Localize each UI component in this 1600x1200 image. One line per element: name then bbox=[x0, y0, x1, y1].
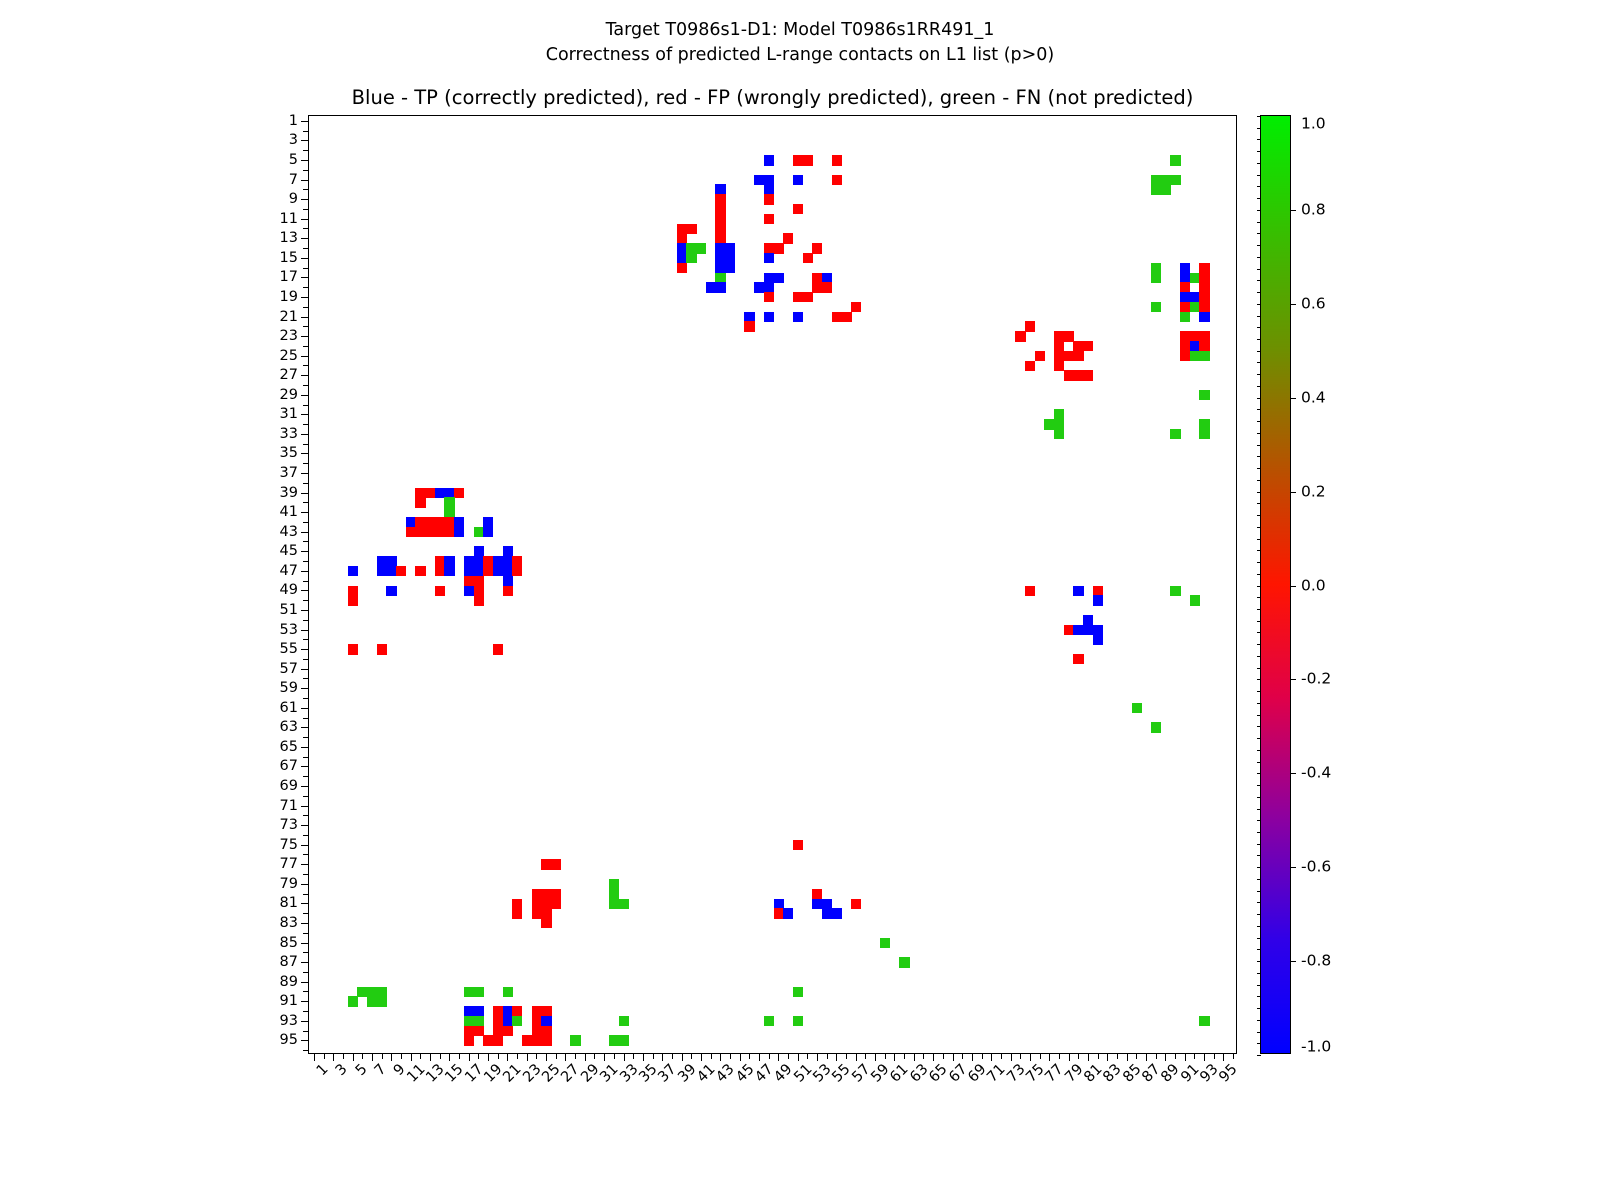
x-axis-tick bbox=[749, 1053, 750, 1059]
colorbar-minor-tick bbox=[1257, 820, 1261, 821]
y-axis-tick bbox=[303, 796, 309, 797]
contact-cell bbox=[570, 1035, 580, 1045]
contact-cell bbox=[1180, 312, 1190, 322]
contact-cell bbox=[348, 566, 358, 576]
y-axis-tick bbox=[301, 766, 309, 767]
x-axis-tick bbox=[653, 1053, 654, 1059]
contact-cell bbox=[493, 644, 503, 654]
x-axis-tick bbox=[1127, 1053, 1128, 1061]
x-axis-tick bbox=[1214, 1053, 1215, 1059]
contact-cell bbox=[512, 908, 522, 918]
colorbar-minor-tick bbox=[1257, 797, 1261, 798]
contact-cell bbox=[774, 273, 784, 283]
y-axis-tick bbox=[301, 453, 309, 454]
y-axis-tick bbox=[303, 248, 309, 249]
y-axis-tick bbox=[301, 610, 309, 611]
contact-cell bbox=[1015, 331, 1025, 341]
contact-cell bbox=[1025, 586, 1035, 596]
colorbar-minor-tick bbox=[1257, 715, 1261, 716]
contact-cell bbox=[696, 243, 706, 253]
y-axis-tick bbox=[301, 512, 309, 513]
contact-cell bbox=[851, 899, 861, 909]
y-axis-tick bbox=[303, 131, 309, 132]
x-axis-tick bbox=[1165, 1053, 1166, 1061]
contact-cell bbox=[1170, 175, 1180, 185]
y-axis-tick-label: 45 bbox=[280, 544, 298, 558]
y-axis-tick bbox=[303, 835, 309, 836]
y-axis-tick bbox=[303, 874, 309, 875]
contact-cell bbox=[396, 566, 406, 576]
colorbar-minor-tick bbox=[1257, 339, 1261, 340]
y-axis-tick-label: 21 bbox=[280, 310, 298, 324]
colorbar-minor-tick bbox=[1257, 785, 1261, 786]
contact-cell bbox=[503, 1026, 513, 1036]
y-axis-tick-label: 13 bbox=[280, 231, 298, 245]
colorbar-minor-tick bbox=[1257, 679, 1261, 680]
y-axis-tick bbox=[303, 815, 309, 816]
x-axis-tick bbox=[662, 1053, 663, 1061]
y-axis-tick bbox=[303, 737, 309, 738]
y-axis-tick bbox=[301, 806, 309, 807]
contact-cell bbox=[348, 644, 358, 654]
y-axis-tick bbox=[301, 903, 309, 904]
y-axis-tick bbox=[303, 170, 309, 171]
x-axis-tick bbox=[633, 1053, 634, 1059]
contact-cell bbox=[1170, 586, 1180, 596]
y-axis-tick bbox=[303, 541, 309, 542]
y-axis-tick bbox=[301, 434, 309, 435]
y-axis-tick bbox=[301, 258, 309, 259]
y-axis-tick bbox=[303, 913, 309, 914]
colorbar-minor-tick bbox=[1257, 902, 1261, 903]
y-axis-tick bbox=[303, 1050, 309, 1051]
y-axis-tick bbox=[303, 581, 309, 582]
x-axis-tick bbox=[740, 1053, 741, 1061]
contact-cell bbox=[1199, 390, 1209, 400]
y-axis-tick bbox=[301, 140, 309, 141]
y-axis-tick bbox=[301, 375, 309, 376]
y-axis-tick bbox=[301, 649, 309, 650]
colorbar-minor-tick bbox=[1257, 550, 1261, 551]
colorbar-tick bbox=[1290, 398, 1296, 399]
x-axis-tick bbox=[1011, 1053, 1012, 1061]
colorbar-minor-tick bbox=[1257, 445, 1261, 446]
x-axis-tick bbox=[701, 1053, 702, 1061]
colorbar-minor-tick bbox=[1257, 163, 1261, 164]
y-axis-tick bbox=[303, 561, 309, 562]
colorbar-minor-tick bbox=[1257, 222, 1261, 223]
x-axis-tick bbox=[1175, 1053, 1176, 1059]
colorbar-minor-tick bbox=[1257, 128, 1261, 129]
y-axis-tick bbox=[301, 277, 309, 278]
colorbar-minor-tick bbox=[1257, 210, 1261, 211]
x-axis-tick bbox=[1088, 1053, 1089, 1061]
x-axis-tick bbox=[991, 1053, 992, 1061]
contact-cell bbox=[1151, 722, 1161, 732]
x-axis-tick bbox=[324, 1053, 325, 1059]
y-axis-tick-label: 69 bbox=[280, 779, 298, 793]
x-axis-tick bbox=[885, 1053, 886, 1059]
colorbar-minor-tick bbox=[1257, 257, 1261, 258]
x-axis-tick bbox=[372, 1053, 373, 1061]
y-axis-tick-label: 77 bbox=[280, 857, 298, 871]
contact-cell bbox=[793, 312, 803, 322]
colorbar-minor-tick bbox=[1257, 844, 1261, 845]
colorbar-minor-tick bbox=[1257, 738, 1261, 739]
colorbar-tick bbox=[1290, 210, 1296, 211]
colorbar-minor-tick bbox=[1257, 398, 1261, 399]
y-axis-tick bbox=[301, 414, 309, 415]
y-axis-tick-label: 95 bbox=[280, 1033, 298, 1047]
x-axis-tick bbox=[333, 1053, 334, 1061]
colorbar-minor-tick bbox=[1257, 621, 1261, 622]
y-axis-tick-label: 47 bbox=[280, 564, 298, 578]
x-axis-tick bbox=[827, 1053, 828, 1059]
y-axis-tick bbox=[301, 630, 309, 631]
colorbar-minor-tick bbox=[1257, 304, 1261, 305]
y-axis-tick bbox=[301, 160, 309, 161]
contact-cell bbox=[1073, 586, 1083, 596]
contact-cell bbox=[725, 263, 735, 273]
contact-cell bbox=[803, 253, 813, 263]
y-axis-tick bbox=[301, 845, 309, 846]
contact-cell bbox=[783, 908, 793, 918]
contact-cell bbox=[551, 859, 561, 869]
y-axis-tick-label: 79 bbox=[280, 877, 298, 891]
colorbar-minor-tick bbox=[1257, 280, 1261, 281]
contact-cell bbox=[1132, 703, 1142, 713]
y-axis-tick bbox=[301, 708, 309, 709]
x-axis-tick bbox=[1001, 1053, 1002, 1059]
contact-cell bbox=[793, 175, 803, 185]
colorbar-minor-tick bbox=[1257, 139, 1261, 140]
contact-cell bbox=[832, 155, 842, 165]
x-axis-tick bbox=[343, 1053, 344, 1059]
y-axis-tick bbox=[303, 444, 309, 445]
x-axis-tick bbox=[1098, 1053, 1099, 1059]
figure-canvas: Target T0986s1-D1: Model T0986s1RR491_1 … bbox=[0, 0, 1600, 1200]
contact-cell bbox=[1054, 429, 1064, 439]
y-axis-tick bbox=[303, 463, 309, 464]
colorbar-tick bbox=[1290, 492, 1296, 493]
x-axis-tick bbox=[1078, 1053, 1079, 1059]
x-axis-tick bbox=[382, 1053, 383, 1059]
contact-cell bbox=[774, 243, 784, 253]
y-axis-tick bbox=[303, 405, 309, 406]
colorbar-minor-tick bbox=[1257, 503, 1261, 504]
contact-cell bbox=[1025, 361, 1035, 371]
colorbar-minor-tick bbox=[1257, 632, 1261, 633]
x-axis-tick bbox=[798, 1053, 799, 1061]
y-axis-tick bbox=[303, 502, 309, 503]
contact-cell bbox=[503, 586, 513, 596]
y-axis-tick bbox=[303, 1011, 309, 1012]
colorbar-minor-tick bbox=[1257, 867, 1261, 868]
y-axis-tick bbox=[301, 727, 309, 728]
contact-cell bbox=[899, 957, 909, 967]
y-axis-tick-label: 55 bbox=[280, 642, 298, 656]
contact-cell bbox=[822, 282, 832, 292]
x-axis-tick bbox=[527, 1053, 528, 1061]
colorbar-minor-tick bbox=[1257, 386, 1261, 387]
y-axis-tick bbox=[303, 620, 309, 621]
x-axis-tick bbox=[362, 1053, 363, 1059]
colorbar-tick-label: -0.4 bbox=[1301, 766, 1331, 781]
colorbar-tick bbox=[1290, 586, 1296, 587]
colorbar-minor-tick bbox=[1257, 480, 1261, 481]
x-axis-tick bbox=[507, 1053, 508, 1061]
x-axis-tick-label: 7 bbox=[372, 1062, 388, 1078]
colorbar-minor-tick bbox=[1257, 362, 1261, 363]
contact-cell bbox=[1025, 321, 1035, 331]
x-axis-tick bbox=[1030, 1053, 1031, 1061]
x-axis-tick bbox=[943, 1053, 944, 1059]
contact-cell bbox=[377, 644, 387, 654]
contact-cell bbox=[493, 1035, 503, 1045]
y-axis-tick-label: 23 bbox=[280, 329, 298, 343]
colorbar-minor-tick bbox=[1257, 562, 1261, 563]
contact-cell bbox=[783, 233, 793, 243]
y-axis-tick bbox=[301, 493, 309, 494]
colorbar-tick-label: -0.8 bbox=[1301, 954, 1331, 969]
y-axis-tick bbox=[303, 228, 309, 229]
y-axis-tick bbox=[301, 180, 309, 181]
y-axis-tick bbox=[301, 395, 309, 396]
y-axis-tick-label: 11 bbox=[280, 212, 298, 226]
colorbar-minor-tick bbox=[1257, 973, 1261, 974]
x-axis-tick bbox=[411, 1053, 412, 1061]
y-axis-tick-label: 93 bbox=[280, 1014, 298, 1028]
contact-cell bbox=[551, 899, 561, 909]
y-axis-tick-label: 63 bbox=[280, 720, 298, 734]
x-axis-tick bbox=[556, 1053, 557, 1059]
y-axis-tick-label: 75 bbox=[280, 838, 298, 852]
colorbar-minor-tick bbox=[1257, 409, 1261, 410]
colorbar-minor-tick bbox=[1257, 703, 1261, 704]
colorbar-tick bbox=[1290, 961, 1296, 962]
colorbar-minor-tick bbox=[1257, 1008, 1261, 1009]
contact-cell bbox=[764, 253, 774, 263]
colorbar-minor-tick bbox=[1257, 574, 1261, 575]
colorbar-minor-tick bbox=[1257, 809, 1261, 810]
y-axis-tick-label: 73 bbox=[280, 818, 298, 832]
contact-cell bbox=[512, 566, 522, 576]
y-axis-tick bbox=[301, 943, 309, 944]
y-axis-tick bbox=[303, 659, 309, 660]
y-axis-tick bbox=[301, 884, 309, 885]
y-axis-tick bbox=[303, 385, 309, 386]
contact-cell bbox=[619, 1016, 629, 1026]
x-axis-tick bbox=[1069, 1053, 1070, 1061]
x-axis-tick-label: 5 bbox=[353, 1062, 369, 1078]
colorbar-minor-tick bbox=[1257, 668, 1261, 669]
x-axis-tick bbox=[536, 1053, 537, 1059]
y-axis-tick bbox=[303, 991, 309, 992]
y-axis-tick bbox=[301, 1040, 309, 1041]
y-axis-tick bbox=[301, 297, 309, 298]
y-axis-tick-label: 65 bbox=[280, 740, 298, 754]
x-axis-tick bbox=[314, 1053, 315, 1061]
colorbar-minor-tick bbox=[1257, 374, 1261, 375]
colorbar-minor-tick bbox=[1257, 938, 1261, 939]
colorbar-minor-tick bbox=[1257, 832, 1261, 833]
y-axis-tick bbox=[303, 424, 309, 425]
x-axis-tick bbox=[604, 1053, 605, 1061]
colorbar-minor-tick bbox=[1257, 762, 1261, 763]
x-axis-tick bbox=[353, 1053, 354, 1061]
x-axis-tick bbox=[1049, 1053, 1050, 1061]
contact-cell bbox=[764, 292, 774, 302]
contact-cell bbox=[793, 840, 803, 850]
colorbar-minor-tick bbox=[1257, 656, 1261, 657]
y-axis-tick-label: 89 bbox=[280, 975, 298, 989]
y-axis-tick bbox=[301, 864, 309, 865]
x-axis-tick bbox=[517, 1053, 518, 1059]
colorbar-minor-tick bbox=[1257, 726, 1261, 727]
colorbar-minor-tick bbox=[1257, 527, 1261, 528]
colorbar-minor-tick bbox=[1257, 773, 1261, 774]
y-axis-tick-label: 25 bbox=[280, 349, 298, 363]
y-axis-tick bbox=[303, 757, 309, 758]
x-axis-tick bbox=[682, 1053, 683, 1061]
y-axis-tick bbox=[301, 219, 309, 220]
y-axis-tick bbox=[301, 825, 309, 826]
colorbar-minor-tick bbox=[1257, 316, 1261, 317]
x-axis-tick bbox=[1040, 1053, 1041, 1059]
y-axis-tick bbox=[301, 982, 309, 983]
colorbar-minor-tick bbox=[1257, 1055, 1261, 1056]
x-axis-tick bbox=[575, 1053, 576, 1059]
colorbar-minor-tick bbox=[1257, 996, 1261, 997]
y-axis-tick bbox=[301, 571, 309, 572]
contact-cell bbox=[512, 1016, 522, 1026]
contact-map-cells bbox=[309, 116, 1236, 1053]
x-axis-tick bbox=[730, 1053, 731, 1059]
x-axis-tick bbox=[720, 1053, 721, 1061]
y-axis-tick bbox=[303, 150, 309, 151]
contact-cell bbox=[803, 155, 813, 165]
colorbar-minor-tick bbox=[1257, 245, 1261, 246]
x-axis-tick bbox=[1059, 1053, 1060, 1059]
y-axis-tick-label: 91 bbox=[280, 994, 298, 1008]
x-axis-tick bbox=[953, 1053, 954, 1061]
y-axis-tick-label: 15 bbox=[280, 251, 298, 265]
x-axis-tick bbox=[1233, 1053, 1234, 1059]
y-axis-tick bbox=[303, 307, 309, 308]
y-axis-tick-label: 31 bbox=[280, 407, 298, 421]
y-axis-tick-label: 33 bbox=[280, 427, 298, 441]
y-axis-tick-label: 59 bbox=[280, 681, 298, 695]
y-axis-tick bbox=[303, 952, 309, 953]
x-axis-tick bbox=[875, 1053, 876, 1061]
x-axis-tick bbox=[440, 1053, 441, 1059]
colorbar-tick bbox=[1290, 773, 1296, 774]
y-axis-tick-label: 85 bbox=[280, 936, 298, 950]
colorbar-minor-tick bbox=[1257, 198, 1261, 199]
colorbar-minor-tick bbox=[1257, 597, 1261, 598]
colorbar-minor-tick bbox=[1257, 691, 1261, 692]
x-axis-tick bbox=[624, 1053, 625, 1061]
y-axis-tick bbox=[303, 972, 309, 973]
y-axis-tick-label: 49 bbox=[280, 583, 298, 597]
x-axis-tick bbox=[904, 1053, 905, 1059]
contact-cell bbox=[1093, 595, 1103, 605]
x-axis-tick bbox=[546, 1053, 547, 1061]
contact-cell bbox=[764, 312, 774, 322]
contact-cell bbox=[415, 497, 425, 507]
x-axis-tick bbox=[1117, 1053, 1118, 1059]
x-axis-tick bbox=[972, 1053, 973, 1061]
colorbar-tick-label: -0.2 bbox=[1301, 672, 1331, 687]
contact-cell bbox=[348, 996, 358, 1006]
colorbar-minor-tick bbox=[1257, 1032, 1261, 1033]
y-axis-tick bbox=[303, 268, 309, 269]
colorbar-tick-label: -0.6 bbox=[1301, 860, 1331, 875]
x-axis-tick bbox=[711, 1053, 712, 1059]
colorbar-minor-tick bbox=[1257, 421, 1261, 422]
contact-cell bbox=[386, 586, 396, 596]
contact-cell bbox=[474, 987, 484, 997]
contact-cell bbox=[377, 996, 387, 1006]
contact-cell bbox=[764, 1016, 774, 1026]
y-axis-tick-label: 81 bbox=[280, 896, 298, 910]
colorbar-minor-tick bbox=[1257, 1020, 1261, 1021]
contact-cell bbox=[764, 155, 774, 165]
y-axis-tick bbox=[301, 121, 309, 122]
contact-cell bbox=[677, 263, 687, 273]
x-axis-tick bbox=[817, 1053, 818, 1061]
colorbar-tick-label: 0.4 bbox=[1301, 390, 1326, 405]
y-axis-tick-label: 67 bbox=[280, 759, 298, 773]
colorbar-tick-label: 0.6 bbox=[1301, 296, 1326, 311]
y-axis-tick bbox=[303, 522, 309, 523]
contact-cell bbox=[1073, 654, 1083, 664]
y-axis-tick bbox=[303, 287, 309, 288]
y-axis-tick bbox=[303, 698, 309, 699]
axes-title-legend: Blue - TP (correctly predicted), red - F… bbox=[308, 86, 1237, 109]
x-axis-tick bbox=[614, 1053, 615, 1059]
contact-cell bbox=[764, 194, 774, 204]
x-axis-tick bbox=[759, 1053, 760, 1061]
x-axis-tick bbox=[865, 1053, 866, 1059]
x-axis-tick bbox=[788, 1053, 789, 1059]
contact-cell bbox=[686, 253, 696, 263]
colorbar-tick-label: 1.0 bbox=[1301, 117, 1326, 132]
x-axis-tick bbox=[401, 1053, 402, 1059]
x-axis-tick bbox=[1107, 1053, 1108, 1061]
contact-cell bbox=[348, 595, 358, 605]
colorbar-minor-tick bbox=[1257, 926, 1261, 927]
contact-map-axes[interactable]: 1357911131517192123252729313335373941434… bbox=[308, 115, 1237, 1054]
contact-cell bbox=[793, 987, 803, 997]
colorbar-minor-tick bbox=[1257, 151, 1261, 152]
colorbar-minor-tick bbox=[1257, 269, 1261, 270]
y-axis-tick-label: 3 bbox=[289, 133, 298, 147]
contact-cell bbox=[541, 1035, 551, 1045]
contact-cell bbox=[764, 214, 774, 224]
contact-cell bbox=[832, 175, 842, 185]
y-axis-tick-label: 71 bbox=[280, 799, 298, 813]
y-axis-tick-label: 83 bbox=[280, 916, 298, 930]
y-axis-tick-label: 19 bbox=[280, 290, 298, 304]
y-axis-tick bbox=[303, 483, 309, 484]
contact-cell bbox=[444, 566, 454, 576]
colorbar[interactable]: 1.00.80.60.40.20.0-0.2-0.4-0.6-0.8-1.0 bbox=[1260, 115, 1291, 1054]
contact-cell bbox=[1161, 184, 1171, 194]
y-axis-tick bbox=[301, 747, 309, 748]
x-axis-tick bbox=[672, 1053, 673, 1059]
y-axis-tick bbox=[303, 933, 309, 934]
